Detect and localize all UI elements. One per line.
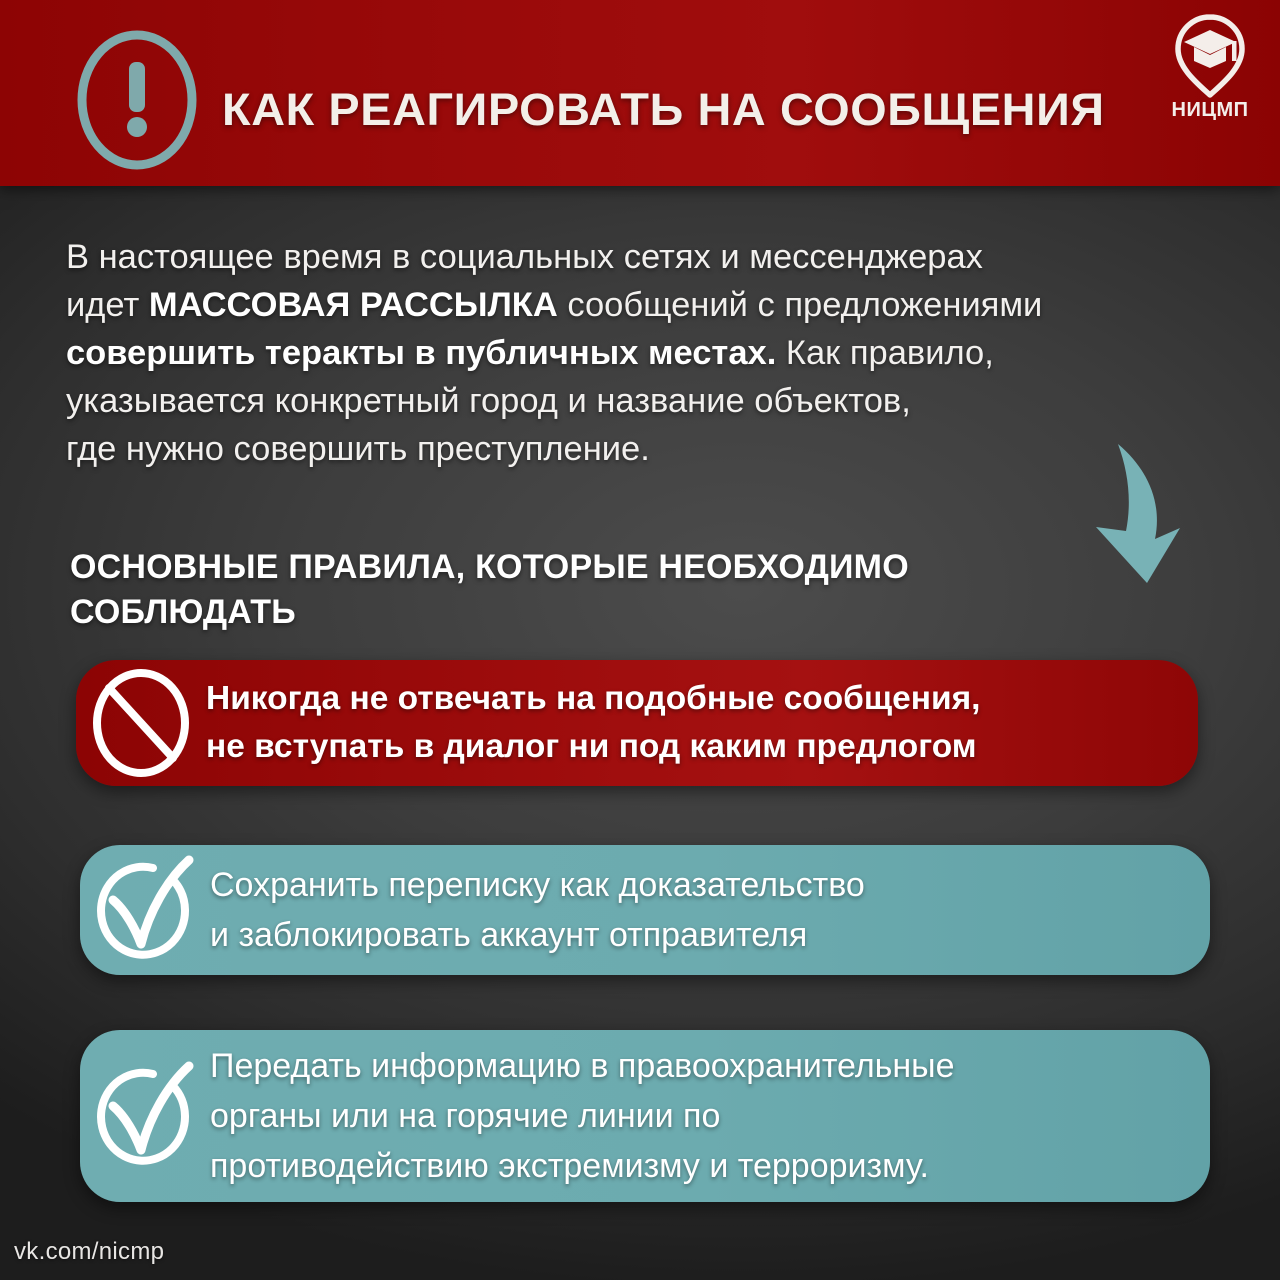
intro-line-2-post: сообщений с предложениями (558, 286, 1043, 324)
logo-text: НИЦМП (1158, 99, 1262, 122)
rule-2-line-1: Сохранить переписку как доказательство (210, 860, 1188, 910)
organization-logo: НИЦМП (1158, 14, 1262, 134)
prohibition-sign-icon (76, 667, 206, 779)
rule-3-line-1: Передать информацию в правоохранительные (210, 1041, 1188, 1091)
infographic-poster: КАК РЕАГИРОВАТЬ НА СООБЩЕНИЯ НИЦМП В нас… (0, 0, 1280, 1280)
intro-line-4: указывается конкретный город и название … (66, 382, 911, 420)
rule-3-line-3: противодействию экстремизму и терроризму… (210, 1141, 1188, 1191)
page-title: КАК РЕАГИРОВАТЬ НА СООБЩЕНИЯ (222, 84, 1105, 136)
subheading-line-2: СОБЛЮДАТЬ (70, 590, 1090, 635)
check-circle-icon (80, 1060, 210, 1172)
rule-card-never-reply: Никогда не отвечать на подобные сообщени… (76, 660, 1198, 786)
intro-line-3-post: Как правило, (776, 334, 994, 372)
exclamation-circle-icon (73, 26, 201, 174)
rule-3-line-2: органы или на горячие линии по (210, 1091, 1188, 1141)
rule-card-text: Сохранить переписку как доказательство и… (210, 860, 1210, 960)
intro-line-2-pre: идет (66, 286, 149, 324)
subheading-line-1: ОСНОВНЫЕ ПРАВИЛА, КОТОРЫЕ НЕОБХОДИМО (70, 545, 1090, 590)
intro-paragraph: В настоящее время в социальных сетях и м… (66, 233, 1196, 473)
rule-card-text: Передать информацию в правоохранительные… (210, 1041, 1210, 1191)
intro-emphasis-mass-mailing: МАССОВАЯ РАССЫЛКА (149, 286, 558, 324)
footer-link[interactable]: vk.com/nicmp (14, 1238, 164, 1266)
intro-emphasis-attacks: совершить теракты в публичных местах. (66, 334, 776, 372)
curved-down-arrow-icon (1092, 435, 1202, 590)
header-banner: КАК РЕАГИРОВАТЬ НА СООБЩЕНИЯ НИЦМП (0, 0, 1280, 186)
rule-1-line-2: не вступать в диалог ни под каким предло… (206, 723, 1176, 771)
intro-line-1: В настоящее время в социальных сетях и м… (66, 238, 983, 276)
rule-card-text: Никогда не отвечать на подобные сообщени… (206, 675, 1198, 771)
rule-card-save-chat: Сохранить переписку как доказательство и… (80, 845, 1210, 975)
map-pin-graduation-cap-icon (1172, 14, 1248, 98)
intro-line-5: где нужно совершить преступление. (66, 430, 650, 468)
rules-subheading: ОСНОВНЫЕ ПРАВИЛА, КОТОРЫЕ НЕОБХОДИМО СОБ… (70, 545, 1090, 635)
rule-1-line-1: Никогда не отвечать на подобные сообщени… (206, 675, 1176, 723)
rule-card-report-authorities: Передать информацию в правоохранительные… (80, 1030, 1210, 1202)
check-circle-icon (80, 854, 210, 966)
rule-2-line-2: и заблокировать аккаунт отправителя (210, 910, 1188, 960)
